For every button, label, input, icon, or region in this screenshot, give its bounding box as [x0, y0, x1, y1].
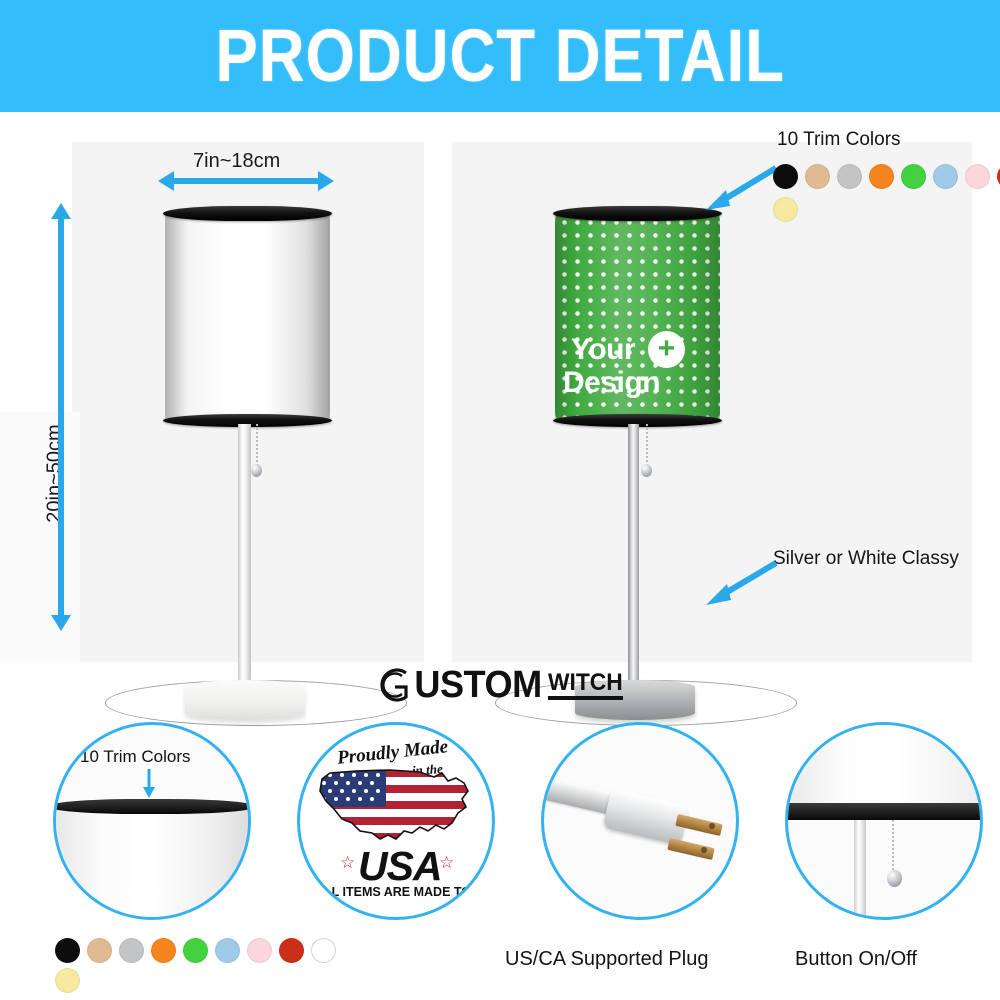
usa-star-left-icon: ☆ — [340, 853, 355, 873]
lamp-shade-white — [165, 212, 330, 422]
shade-trim-top — [553, 206, 722, 221]
trim-colors-callout-arrow — [700, 162, 780, 212]
feature-trim-label: 10 Trim Colors — [80, 747, 191, 767]
brand-logo-c-mark — [376, 666, 410, 704]
trim-swatch-yellow[interactable] — [773, 197, 798, 222]
lamp-white-blank — [110, 202, 400, 642]
design-text-line2: Design — [563, 367, 660, 399]
trim-swatch-orange[interactable] — [869, 164, 894, 189]
feature-caption-plug: US/CA Supported Plug — [505, 948, 708, 971]
trim-swatch-gray[interactable] — [837, 164, 862, 189]
trim-color-swatches-bottom — [55, 938, 336, 963]
trim-swatch-green[interactable] — [183, 938, 208, 963]
trim-swatch-tan[interactable] — [805, 164, 830, 189]
feature-trim-arrow — [139, 769, 159, 804]
plug-prong-upper-hole — [709, 823, 715, 829]
product-detail-page: PRODUCT DETAIL 7in~18cm 20in~50cm — [0, 0, 1000, 1000]
brand-name: USTOM — [414, 666, 541, 704]
trim-swatch-green[interactable] — [901, 164, 926, 189]
brand-suffix: WITCH — [548, 671, 623, 700]
width-measure-label: 7in~18cm — [193, 150, 280, 173]
trim-swatch-pink[interactable] — [247, 938, 272, 963]
plug-prong-lower-hole — [701, 847, 707, 853]
trim-color-swatches-top-row2 — [773, 197, 798, 222]
trim-swatch-gray[interactable] — [119, 938, 144, 963]
pull-chain-ball[interactable] — [251, 464, 262, 477]
plus-icon: + — [658, 334, 676, 364]
switch-pole — [854, 820, 866, 920]
feature-switch — [785, 722, 983, 920]
switch-trim-band — [785, 803, 983, 820]
shade-surface — [165, 212, 330, 422]
design-plus-badge: + — [648, 331, 685, 368]
trim-swatch-red[interactable] — [279, 938, 304, 963]
trim-swatch-light-blue[interactable] — [215, 938, 240, 963]
trim-swatch-orange[interactable] — [151, 938, 176, 963]
switch-pull-chain-ball[interactable] — [887, 870, 902, 887]
usa-country-label: USA — [358, 843, 442, 890]
trim-swatch-light-blue[interactable] — [933, 164, 958, 189]
pull-chain-ball[interactable] — [641, 464, 652, 477]
feature-plug — [541, 722, 739, 920]
trim-swatch-black[interactable] — [773, 164, 798, 189]
trim-swatch-tan[interactable] — [87, 938, 112, 963]
plug-prong-lower — [667, 838, 715, 860]
switch-shade-above — [785, 722, 983, 803]
feature-trim-colors: 10 Trim Colors — [53, 722, 251, 920]
feature-caption-switch: Button On/Off — [795, 948, 917, 971]
custom-design-artwork: Your + Design — [563, 334, 715, 410]
usa-star-right-icon: ☆ — [439, 853, 454, 873]
trim-color-swatches-top — [773, 164, 1000, 189]
trim-colors-callout-label: 10 Trim Colors — [777, 129, 901, 151]
switch-pull-chain[interactable] — [892, 820, 894, 872]
trim-swatch-black[interactable] — [55, 938, 80, 963]
usa-map-flag-icon — [316, 761, 478, 849]
base-finish-callout-arrow — [700, 557, 780, 607]
usa-footer-label: ALL ITEMS ARE MADE TO ORDER! — [315, 885, 495, 899]
page-header-banner: PRODUCT DETAIL — [0, 0, 1000, 112]
trim-swatch-yellow[interactable] — [55, 968, 80, 993]
design-text-line1: Your — [571, 334, 635, 366]
trim-closeup-shade — [53, 805, 251, 920]
brand-logo: USTOM WITCH — [0, 662, 1000, 708]
lamp-shade-green: Your + Design — [555, 212, 720, 422]
main-product-stage: 7in~18cm 20in~50cm — [0, 112, 1000, 660]
page-title: PRODUCT DETAIL — [215, 19, 784, 93]
trim-swatch-pink[interactable] — [965, 164, 990, 189]
base-finish-callout-label: Silver or White Classy — [773, 548, 959, 570]
trim-color-swatches-bottom-row2 — [55, 968, 80, 993]
trim-swatch-white[interactable] — [311, 938, 336, 963]
shade-trim-top — [163, 206, 332, 221]
feature-made-in-usa: Proudly Made in the — [297, 722, 495, 920]
